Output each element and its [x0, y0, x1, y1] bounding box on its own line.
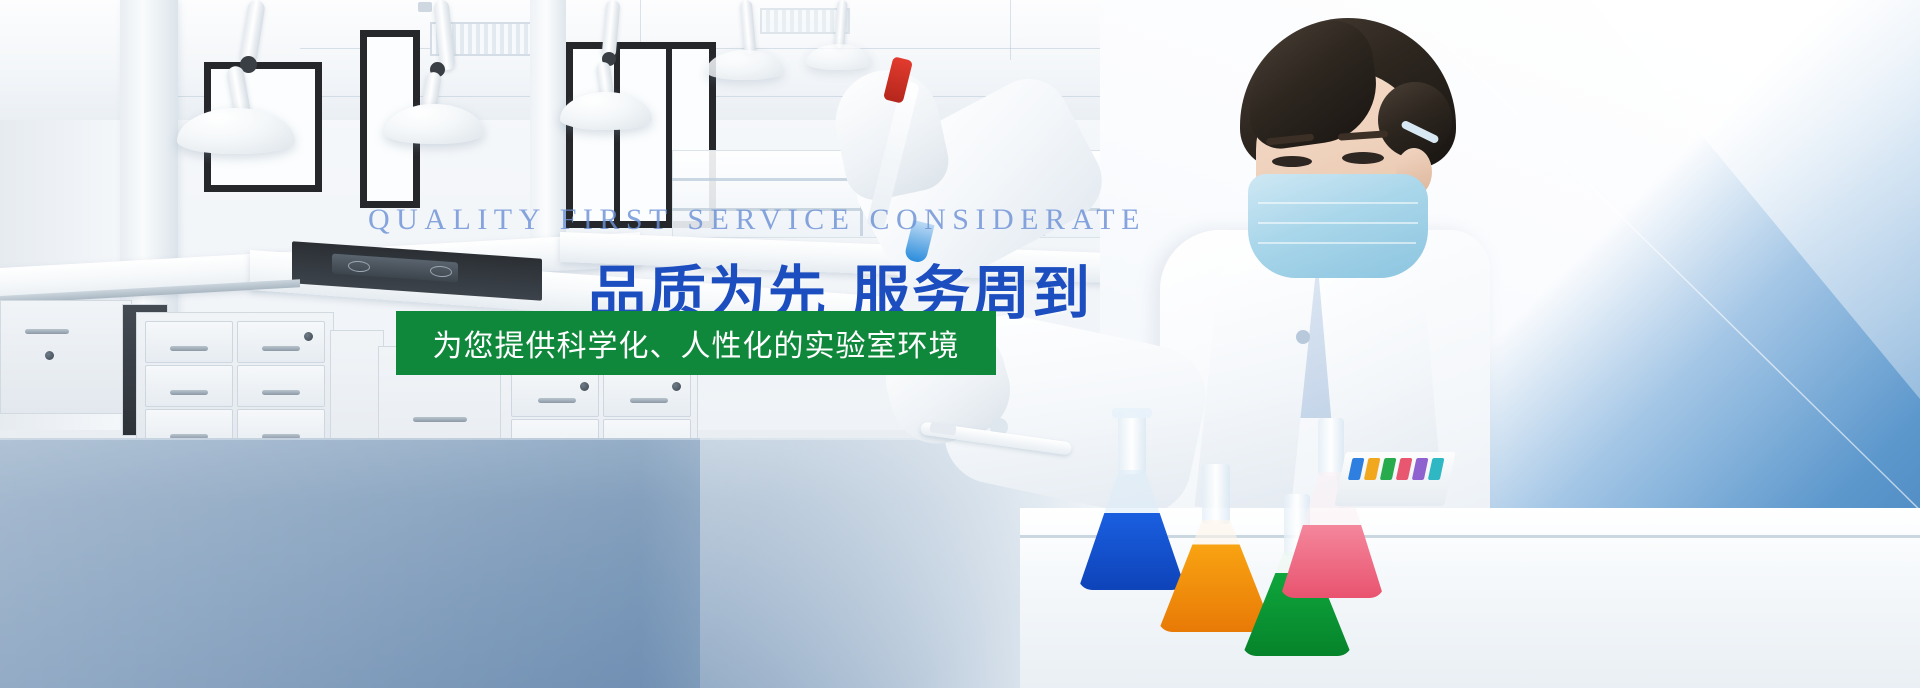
subtitle-bar: 为您提供科学化、人性化的实验室环境 [396, 311, 996, 375]
english-tagline: QUALITY FIRST SERVICE CONSIDERATE [368, 203, 1028, 237]
text-overlay: QUALITY FIRST SERVICE CONSIDERATE 品质为先服务… [0, 0, 1920, 688]
lab-hero-banner: QUALITY FIRST SERVICE CONSIDERATE 品质为先服务… [0, 0, 1920, 688]
subtitle-text: 为您提供科学化、人性化的实验室环境 [433, 321, 960, 365]
